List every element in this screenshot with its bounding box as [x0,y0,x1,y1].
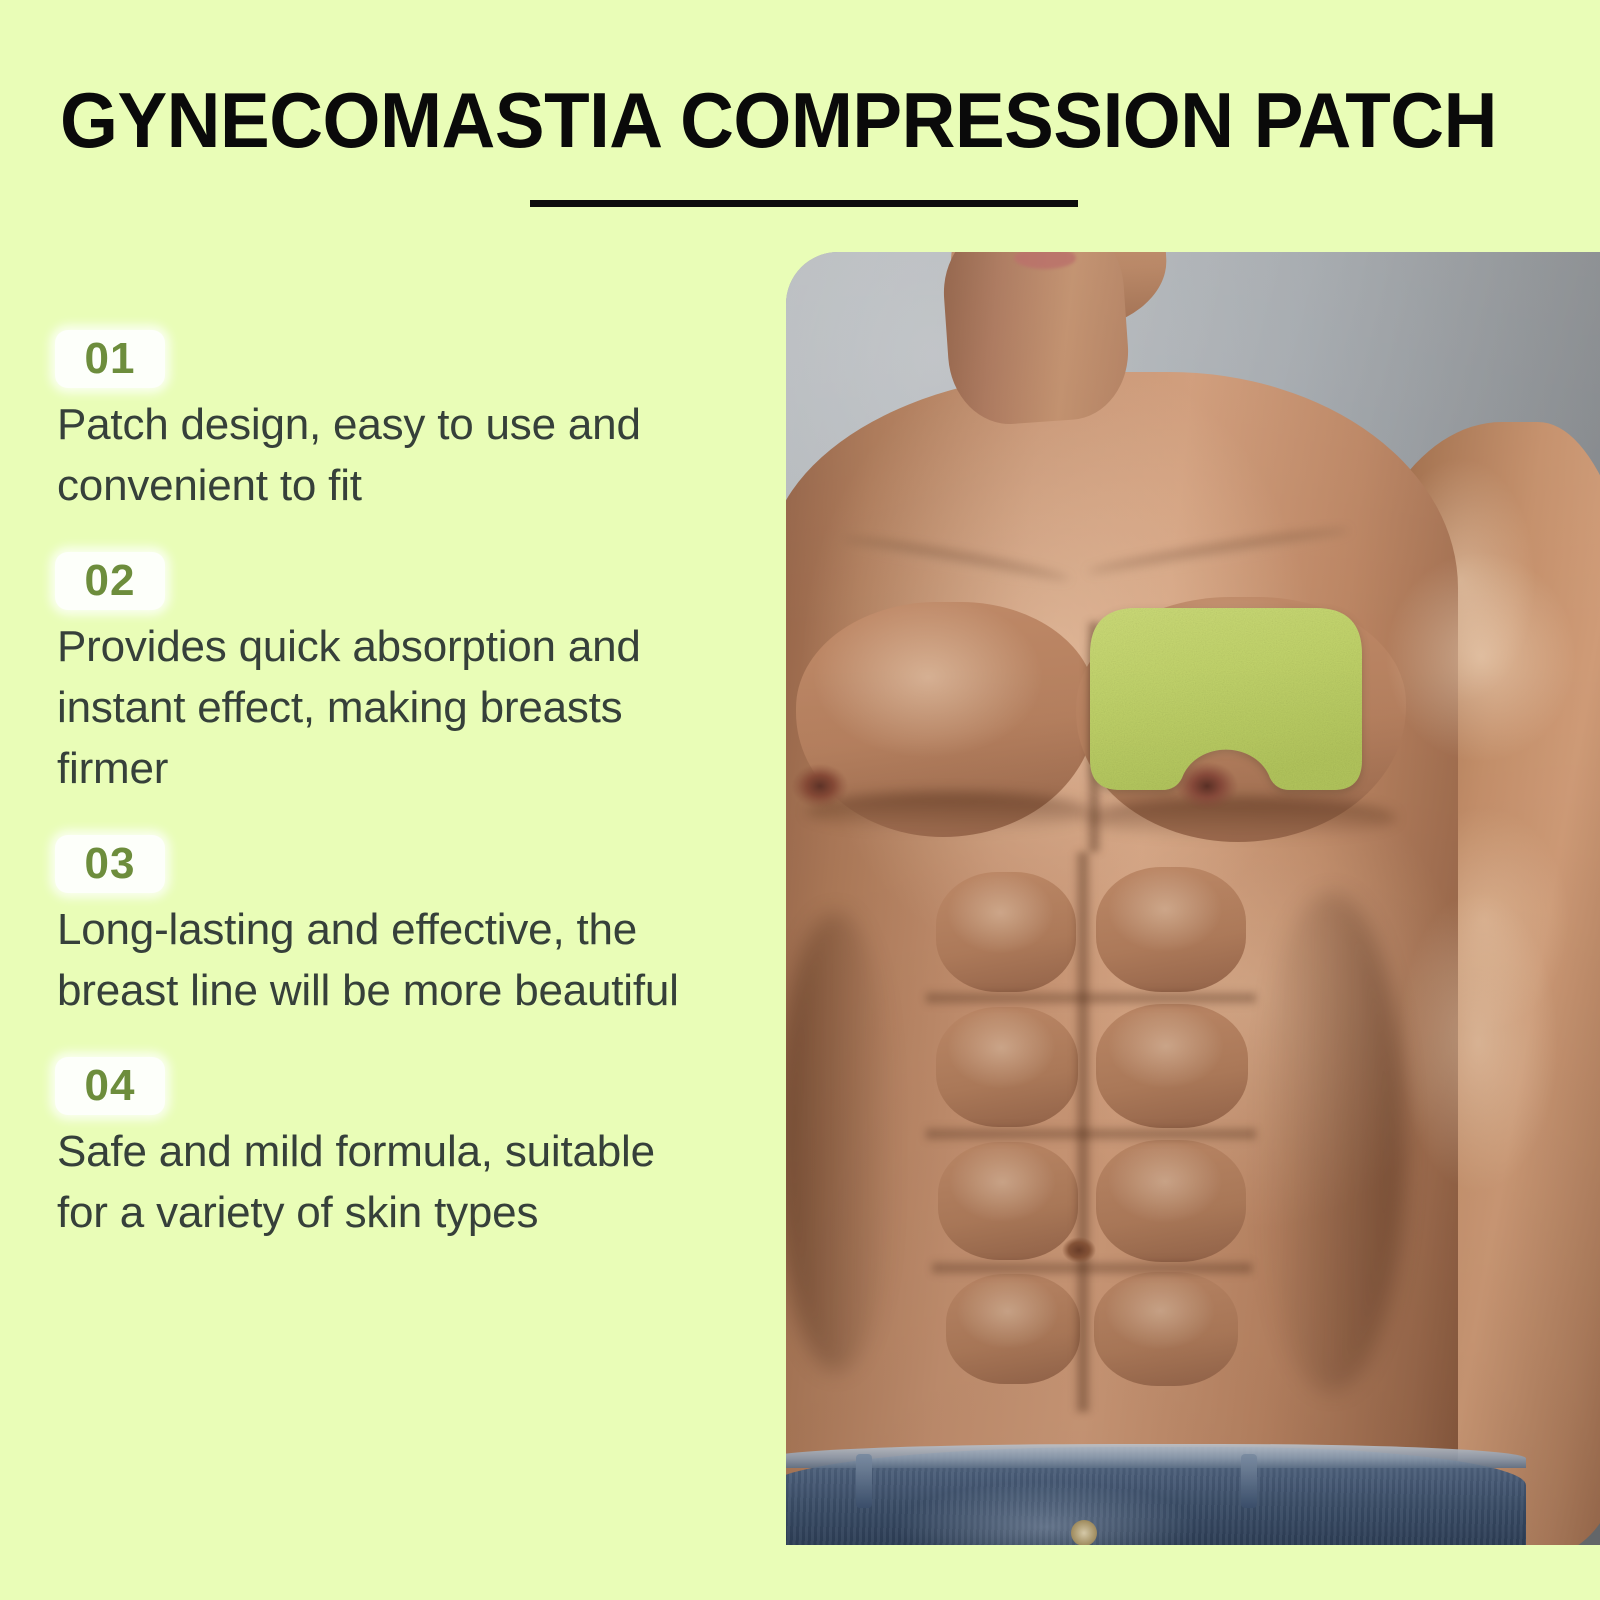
feature-number-badge: 04 [55,1057,165,1115]
list-item: 01 Patch design, easy to use and conveni… [0,330,760,516]
list-item: 03 Long-lasting and effective, the breas… [0,835,760,1021]
ab-row1-right [1096,867,1246,992]
ab-row2-left [936,1007,1078,1127]
feature-number: 01 [55,330,165,388]
title-divider [530,200,1078,207]
product-photo [786,252,1600,1545]
feature-description: Long-lasting and effective, the breast l… [57,899,697,1021]
jeans-waistband [786,1444,1526,1468]
ab-row2-right [1096,1004,1248,1128]
belt-loop-right [1241,1454,1257,1508]
ab-row3-left [938,1142,1078,1260]
left-pec-shadow [806,792,1091,832]
feature-number: 02 [55,552,165,610]
feature-description: Safe and mild formula, suitable for a va… [57,1121,697,1243]
ab-row4-right [1094,1272,1238,1386]
bicep-highlight [1398,892,1558,1192]
feature-description: Provides quick absorption and instant ef… [57,616,697,799]
ab-row3-right [1096,1140,1246,1262]
page-title: GYNECOMASTIA COMPRESSION PATCH [60,78,1483,162]
deltoid-highlight [1386,552,1576,762]
ab-row1-left [936,872,1076,992]
right-oblique-shadow [1256,892,1406,1392]
ab-row4-left [946,1274,1080,1384]
compression-patch [1090,608,1362,808]
header: GYNECOMASTIA COMPRESSION PATCH [0,0,1600,240]
jeans-button [1071,1520,1097,1545]
feature-description: Patch design, easy to use and convenient… [57,394,697,516]
belt-loop-left [856,1454,872,1508]
feature-number-badge: 03 [55,835,165,893]
feature-number-badge: 01 [55,330,165,388]
male-torso-figure [786,252,1600,1545]
neck [939,252,1133,428]
feature-number: 04 [55,1057,165,1115]
feature-list: 01 Patch design, easy to use and conveni… [0,330,760,1279]
feature-number: 03 [55,835,165,893]
feature-number-badge: 02 [55,552,165,610]
linea-alba [1074,852,1092,1412]
ab-separator-3 [932,1260,1252,1276]
list-item: 04 Safe and mild formula, suitable for a… [0,1057,760,1243]
list-item: 02 Provides quick absorption and instant… [0,552,760,799]
navel [1062,1237,1096,1263]
left-nipple [792,764,848,808]
